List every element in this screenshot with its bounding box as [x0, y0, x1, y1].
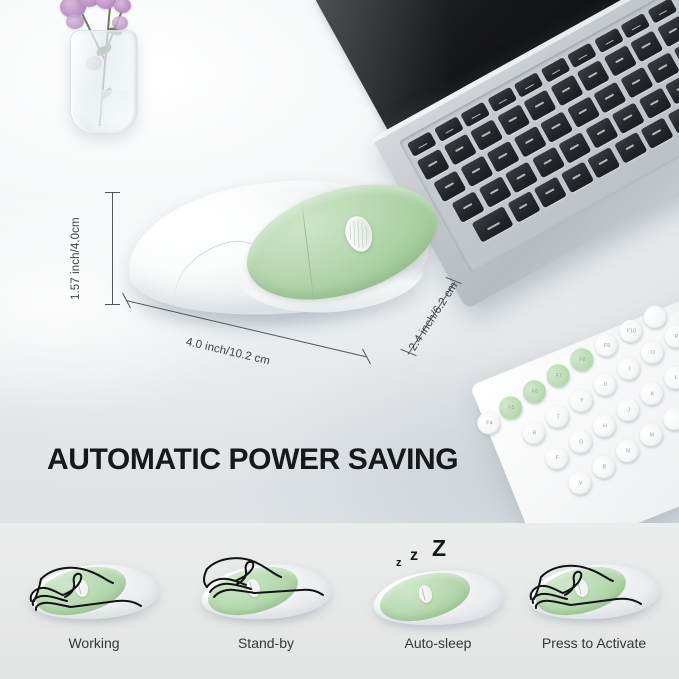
dimension-line	[112, 192, 113, 305]
product-infographic: F5 F6 F7 F8 F9 F10 F4 R T Y U I O P F G …	[0, 0, 679, 679]
hand-above-mouse-icon	[201, 561, 331, 625]
step-illustration	[172, 531, 360, 635]
hand-pressing-mouse-icon	[529, 561, 659, 625]
flower-bloom	[114, 0, 131, 13]
flower-bloom	[66, 14, 84, 29]
dimension-cap	[105, 304, 120, 305]
product-photo-scene: F5 F6 F7 F8 F9 F10 F4 R T Y U I O P F G …	[0, 0, 679, 523]
sleep-mark-large: Z	[432, 535, 446, 562]
mini-mouse-icon	[373, 567, 503, 631]
dimension-height-label: 1.57 inch/4.0cm	[70, 284, 82, 300]
glass-vase	[70, 30, 138, 134]
step-label: Press to Activate	[500, 635, 679, 651]
mini-mouse-icon	[201, 561, 331, 625]
dimension-depth: 2.4 inch/6.2 cm	[404, 284, 484, 364]
white-retro-keyboard-icon: F5 F6 F7 F8 F9 F10 F4 R T Y U I O P F G …	[470, 274, 679, 523]
step-illustration	[0, 531, 188, 635]
dimension-depth-label: 2.4 inch/6.2 cm	[407, 280, 460, 353]
flower-bloom	[112, 16, 128, 30]
sleep-marks-icon: z z Z	[390, 537, 486, 571]
flower-bloom	[96, 0, 116, 9]
dimension-width: 4.0 inch/10.2 cm	[126, 300, 378, 392]
step-label: Stand-by	[172, 635, 360, 651]
step-working: Working	[0, 523, 188, 679]
step-standby: Stand-by	[172, 523, 360, 679]
mini-mouse-icon	[29, 561, 159, 625]
dimension-width-label: 4.0 inch/10.2 cm	[185, 336, 271, 367]
step-illustration	[500, 531, 679, 635]
mouse-button-split	[301, 203, 314, 301]
power-saving-steps: Working	[0, 523, 679, 679]
step-press-to-activate: Press to Activate	[500, 523, 679, 679]
hand-pressing-mouse-icon	[29, 561, 159, 625]
step-label: Working	[0, 635, 188, 651]
dimension-line	[126, 300, 367, 357]
dimension-cap	[105, 192, 120, 193]
sleep-mark-medium: z	[410, 547, 418, 565]
glass-vase-with-flowers-icon	[52, 0, 172, 144]
page-title: AUTOMATIC POWER SAVING	[47, 443, 458, 477]
mini-mouse-icon	[529, 561, 659, 625]
